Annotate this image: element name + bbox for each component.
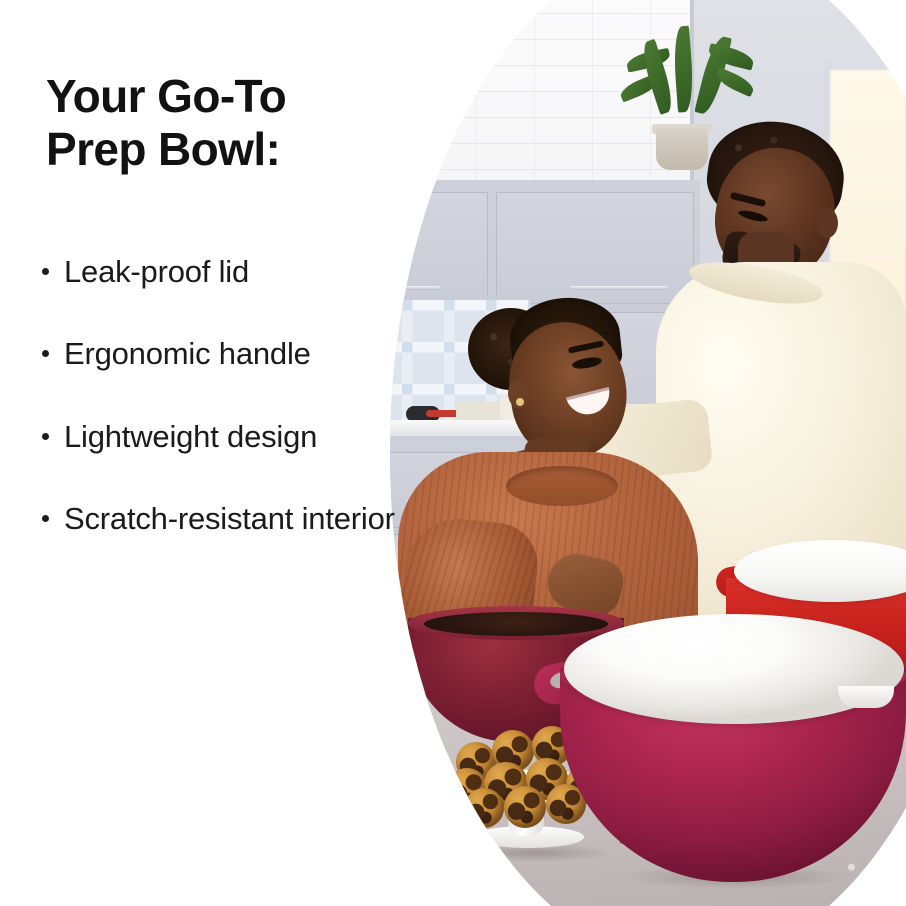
kitchen-photo — [390, 0, 906, 906]
list-item: Lightweight design — [40, 417, 410, 457]
energy-ball — [504, 786, 546, 828]
feature-card: Your Go-To Prep Bowl: Leak-proof lid Erg… — [0, 0, 906, 906]
page-title: Your Go-To Prep Bowl: — [46, 70, 386, 177]
prep-bowl-front-lid-tab — [838, 686, 894, 708]
list-item: Scratch-resistant interior — [40, 499, 410, 539]
feature-label: Lightweight design — [64, 419, 317, 454]
feature-label: Scratch-resistant interior — [64, 501, 395, 536]
bullet-dot-icon — [42, 433, 49, 440]
energy-ball — [464, 788, 504, 828]
prep-bowl-left-contents — [424, 612, 608, 636]
kitchen-photo-scene — [390, 0, 906, 906]
cabinet-handle — [570, 286, 668, 290]
man-ear — [816, 208, 838, 238]
girl-earring — [516, 398, 524, 406]
list-item: Leak-proof lid — [40, 252, 410, 292]
feature-label: Leak-proof lid — [64, 254, 249, 289]
text-column: Your Go-To Prep Bowl: Leak-proof lid Erg… — [0, 0, 420, 906]
plant-pot — [656, 128, 708, 170]
bullet-dot-icon — [42, 515, 49, 522]
bullet-dot-icon — [42, 350, 49, 357]
feature-label: Ergonomic handle — [64, 336, 311, 371]
list-item: Ergonomic handle — [40, 334, 410, 374]
girl-collar — [506, 466, 618, 506]
bullet-dot-icon — [42, 268, 49, 275]
feature-list: Leak-proof lid Ergonomic handle Lightwei… — [40, 252, 410, 539]
counter-item — [456, 402, 500, 420]
